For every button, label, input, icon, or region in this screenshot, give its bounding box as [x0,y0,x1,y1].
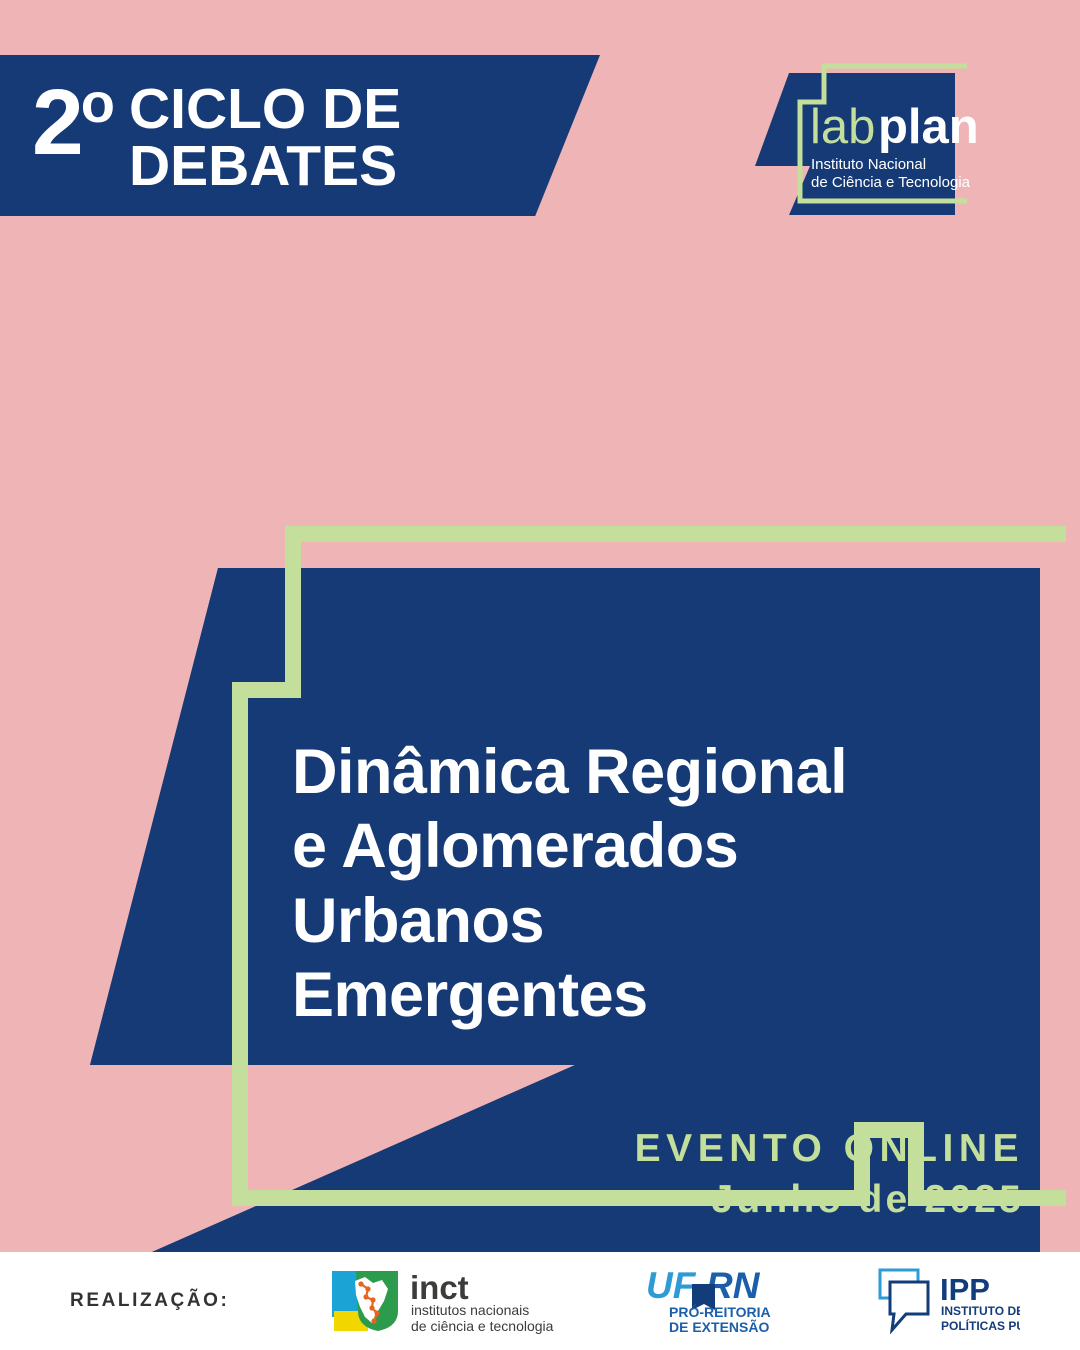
header-title-line2: DEBATES [129,138,401,194]
ufrn-wordmark-uf: UF [646,1268,697,1306]
header-title: CICLO DE DEBATES [115,75,401,194]
title-line-1: Dinâmica Regional [292,735,992,809]
inct-subtitle-line1: institutos nacionais [411,1302,529,1318]
poster-title: Dinâmica Regional e Aglomerados Urbanos … [292,735,992,1032]
realization-label: REALIZAÇÃO: [70,1290,229,1312]
event-date: Junho de 2025 [635,1176,1024,1225]
ipp-subtitle-line1: INSTITUTO DE [941,1304,1020,1318]
edition-number: 2o [32,75,115,164]
title-line-2: e Aglomerados [292,809,992,883]
inct-wordmark: inct [410,1269,469,1306]
labplan-subtitle-line1: Instituto Nacional [811,156,926,173]
inct-logo: inct institutos nacionais de ciência e t… [330,1267,565,1335]
ufrn-subtitle-line2: DE EXTENSÃO [669,1318,769,1334]
ipp-logo: IPP INSTITUTO DE POLÍTICAS PÚBLICAS [872,1268,1020,1334]
edition-number-value: 2 [32,70,81,174]
title-line-3: Urbanos [292,884,992,958]
ufrn-logo: UF RN PRÓ-REITORIA DE EXTENSÃO [640,1268,792,1334]
ipp-subtitle-line2: POLÍTICAS PÚBLICAS [941,1318,1020,1333]
header-banner: 2o CICLO DE DEBATES [0,55,600,216]
footer-bar: REALIZAÇÃO: inct institutos nacionais de… [0,1252,1080,1350]
labplan-word-plan: plan [878,100,979,154]
event-poster: 2o CICLO DE DEBATES lab plan Instituto N… [0,0,1080,1350]
header-title-line1: CICLO DE [129,81,401,137]
ufrn-subtitle-line1: PRÓ-REITORIA [669,1303,771,1320]
edition-ordinal-mark: o [81,71,115,134]
header-banner-content: 2o CICLO DE DEBATES [0,75,401,194]
title-line-4: Emergentes [292,958,992,1032]
labplan-logo: lab plan Instituto Nacional de Ciência e… [742,56,980,232]
event-details: EVENTO ONLINE Junho de 2025 [635,1125,1024,1225]
labplan-subtitle-line2: de Ciência e Tecnologia [811,174,971,191]
inct-subtitle-line2: de ciência e tecnologia [411,1318,554,1334]
event-format: EVENTO ONLINE [635,1125,1024,1174]
ipp-wordmark: IPP [940,1272,990,1307]
labplan-word-lab: lab [810,100,875,154]
